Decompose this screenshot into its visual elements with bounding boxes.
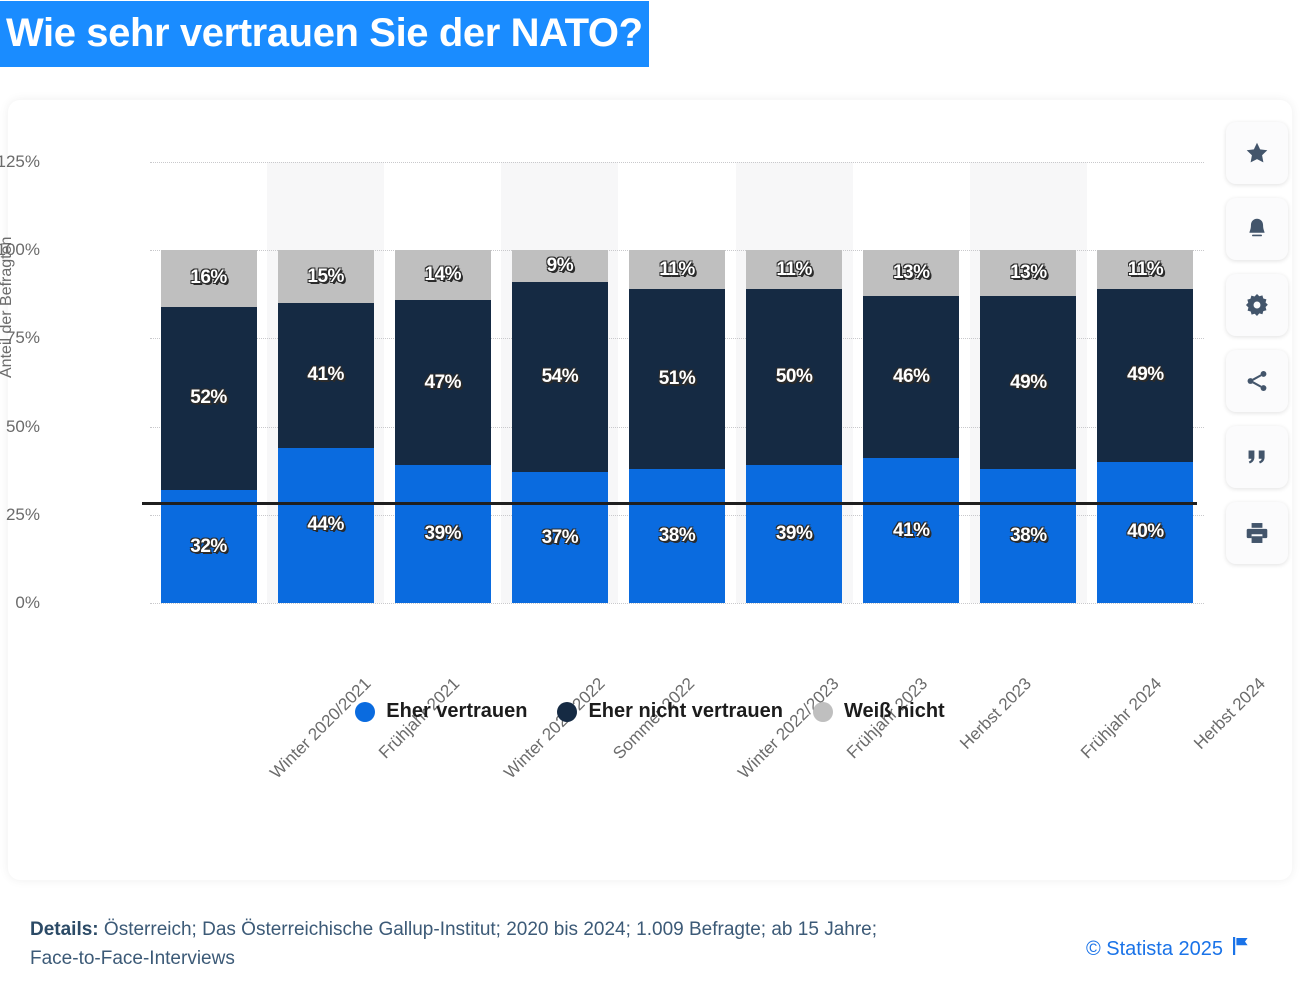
bar-segment[interactable]: 32% bbox=[161, 490, 257, 603]
bar-value-label: 41% bbox=[893, 520, 930, 542]
print-icon bbox=[1244, 520, 1270, 546]
bar-segment[interactable]: 46% bbox=[863, 296, 959, 458]
legend-swatch bbox=[557, 702, 577, 722]
bar-value-label: 13% bbox=[893, 262, 930, 284]
bar-value-label: 47% bbox=[425, 372, 462, 394]
x-axis-tick: Winter 2020/2021 bbox=[266, 674, 375, 783]
bar-value-label: 39% bbox=[776, 523, 813, 545]
bar-value-label: 51% bbox=[659, 368, 696, 390]
y-axis-tick: 25% bbox=[0, 505, 40, 525]
bar-segment[interactable]: 38% bbox=[629, 469, 725, 603]
footer: Details: Österreich; Das Österreichische… bbox=[30, 915, 1280, 974]
bar-segment[interactable]: 52% bbox=[161, 307, 257, 490]
bar-segment[interactable]: 13% bbox=[980, 250, 1076, 296]
legend-label: Weiß nicht bbox=[844, 700, 945, 723]
bar-segment[interactable]: 51% bbox=[629, 289, 725, 469]
details-label: Details: bbox=[30, 919, 99, 940]
bar-segment[interactable]: 54% bbox=[512, 282, 608, 473]
bar-group[interactable]: 44%41%15% bbox=[278, 162, 374, 603]
bar-group[interactable]: 38%51%11% bbox=[629, 162, 725, 603]
bar-value-label: 37% bbox=[542, 527, 579, 549]
bar-segment[interactable]: 9% bbox=[512, 250, 608, 282]
bar-segment[interactable]: 49% bbox=[1097, 289, 1193, 462]
bar-segment[interactable]: 39% bbox=[746, 465, 842, 603]
copyright-text: © Statista 2025 bbox=[1086, 938, 1223, 961]
bar-value-label: 52% bbox=[190, 387, 227, 409]
print-button[interactable] bbox=[1226, 502, 1288, 564]
star-icon bbox=[1244, 140, 1270, 166]
bar-value-label: 39% bbox=[425, 523, 462, 545]
bar-segment[interactable]: 41% bbox=[863, 458, 959, 603]
bar-segment[interactable]: 13% bbox=[863, 250, 959, 296]
bar-value-label: 11% bbox=[1128, 259, 1163, 281]
bar-segment[interactable]: 14% bbox=[395, 250, 491, 299]
bar-segment[interactable]: 38% bbox=[980, 469, 1076, 603]
legend-swatch bbox=[355, 702, 375, 722]
bar-value-label: 50% bbox=[776, 366, 813, 388]
gear-icon bbox=[1244, 292, 1270, 318]
x-axis-line bbox=[142, 502, 1197, 505]
bar-group[interactable]: 40%49%11% bbox=[1097, 162, 1193, 603]
copyright[interactable]: © Statista 2025 bbox=[1086, 937, 1250, 961]
y-axis-title: Anteil der Befragten bbox=[0, 237, 16, 378]
bar-segment[interactable]: 41% bbox=[278, 303, 374, 448]
y-axis-tick: 125% bbox=[0, 152, 40, 172]
bar-segment[interactable]: 11% bbox=[746, 250, 842, 289]
bar-value-label: 9% bbox=[547, 255, 573, 277]
bar-value-label: 32% bbox=[190, 536, 227, 558]
x-axis-tick: Winter 2021/2022 bbox=[500, 674, 609, 783]
bar-value-label: 49% bbox=[1010, 372, 1047, 394]
bar-segment[interactable]: 50% bbox=[746, 289, 842, 465]
bar-segment[interactable]: 44% bbox=[278, 448, 374, 603]
notification-button[interactable] bbox=[1226, 198, 1288, 260]
bar-value-label: 46% bbox=[893, 366, 930, 388]
legend-label: Eher nicht vertrauen bbox=[588, 700, 783, 723]
bar-group[interactable]: 37%54%9% bbox=[512, 162, 608, 603]
bar-segment[interactable]: 15% bbox=[278, 250, 374, 303]
y-axis-tick: 50% bbox=[0, 417, 40, 437]
bar-value-label: 44% bbox=[307, 514, 344, 536]
legend-item-0[interactable]: Eher vertrauen bbox=[355, 700, 527, 723]
bar-segment[interactable]: 16% bbox=[161, 250, 257, 306]
bar-value-label: 11% bbox=[659, 259, 694, 281]
bar-value-label: 40% bbox=[1127, 521, 1164, 543]
bar-segment[interactable]: 49% bbox=[980, 296, 1076, 469]
legend-item-2[interactable]: Weiß nicht bbox=[813, 700, 945, 723]
bar-value-label: 49% bbox=[1127, 364, 1164, 386]
title-bar: Wie sehr vertrauen Sie der NATO? bbox=[0, 0, 649, 68]
bar-value-label: 15% bbox=[307, 266, 344, 288]
legend-label: Eher vertrauen bbox=[386, 700, 527, 723]
bar-segment[interactable]: 11% bbox=[1097, 250, 1193, 289]
bar-group[interactable]: 41%46%13% bbox=[863, 162, 959, 603]
bar-group[interactable]: 38%49%13% bbox=[980, 162, 1076, 603]
bar-segment[interactable]: 11% bbox=[629, 250, 725, 289]
bar-value-label: 41% bbox=[307, 364, 344, 386]
bar-value-label: 54% bbox=[542, 366, 579, 388]
bar-segment[interactable]: 40% bbox=[1097, 462, 1193, 603]
y-axis-tick: 0% bbox=[0, 593, 40, 613]
bar-group[interactable]: 39%47%14% bbox=[395, 162, 491, 603]
quote-icon bbox=[1244, 444, 1270, 470]
settings-button[interactable] bbox=[1226, 274, 1288, 336]
chart-card: 0%25%50%75%100%125%32%52%16%Winter 2020/… bbox=[8, 100, 1292, 880]
bar-group[interactable]: 39%50%11% bbox=[746, 162, 842, 603]
bell-icon bbox=[1244, 216, 1270, 242]
bar-value-label: 16% bbox=[190, 267, 227, 289]
chart-toolbar bbox=[1226, 122, 1288, 564]
chart-legend: Eher vertrauenEher nicht vertrauenWeiß n… bbox=[0, 700, 1300, 723]
legend-swatch bbox=[813, 702, 833, 722]
bar-segment[interactable]: 37% bbox=[512, 472, 608, 603]
flag-icon bbox=[1233, 937, 1250, 961]
bar-value-label: 38% bbox=[1010, 525, 1047, 547]
share-button[interactable] bbox=[1226, 350, 1288, 412]
plot-area: 0%25%50%75%100%125%32%52%16%Winter 2020/… bbox=[150, 162, 1204, 603]
cite-button[interactable] bbox=[1226, 426, 1288, 488]
bar-value-label: 11% bbox=[776, 259, 811, 281]
bar-segment[interactable]: 47% bbox=[395, 300, 491, 466]
bar-value-label: 14% bbox=[425, 264, 462, 286]
bar-value-label: 38% bbox=[659, 525, 696, 547]
favorite-button[interactable] bbox=[1226, 122, 1288, 184]
x-axis-tick: Winter 2022/2023 bbox=[734, 674, 843, 783]
share-icon bbox=[1244, 368, 1270, 394]
page-title: Wie sehr vertrauen Sie der NATO? bbox=[0, 1, 649, 67]
gridline bbox=[150, 603, 1204, 604]
details-text: Details: Österreich; Das Österreichische… bbox=[30, 915, 910, 974]
bar-value-label: 13% bbox=[1010, 262, 1047, 284]
details-body: Österreich; Das Österreichische Gallup-I… bbox=[30, 919, 877, 969]
bar-segment[interactable]: 39% bbox=[395, 465, 491, 603]
bar-group[interactable]: 32%52%16% bbox=[161, 162, 257, 603]
legend-item-1[interactable]: Eher nicht vertrauen bbox=[557, 700, 783, 723]
